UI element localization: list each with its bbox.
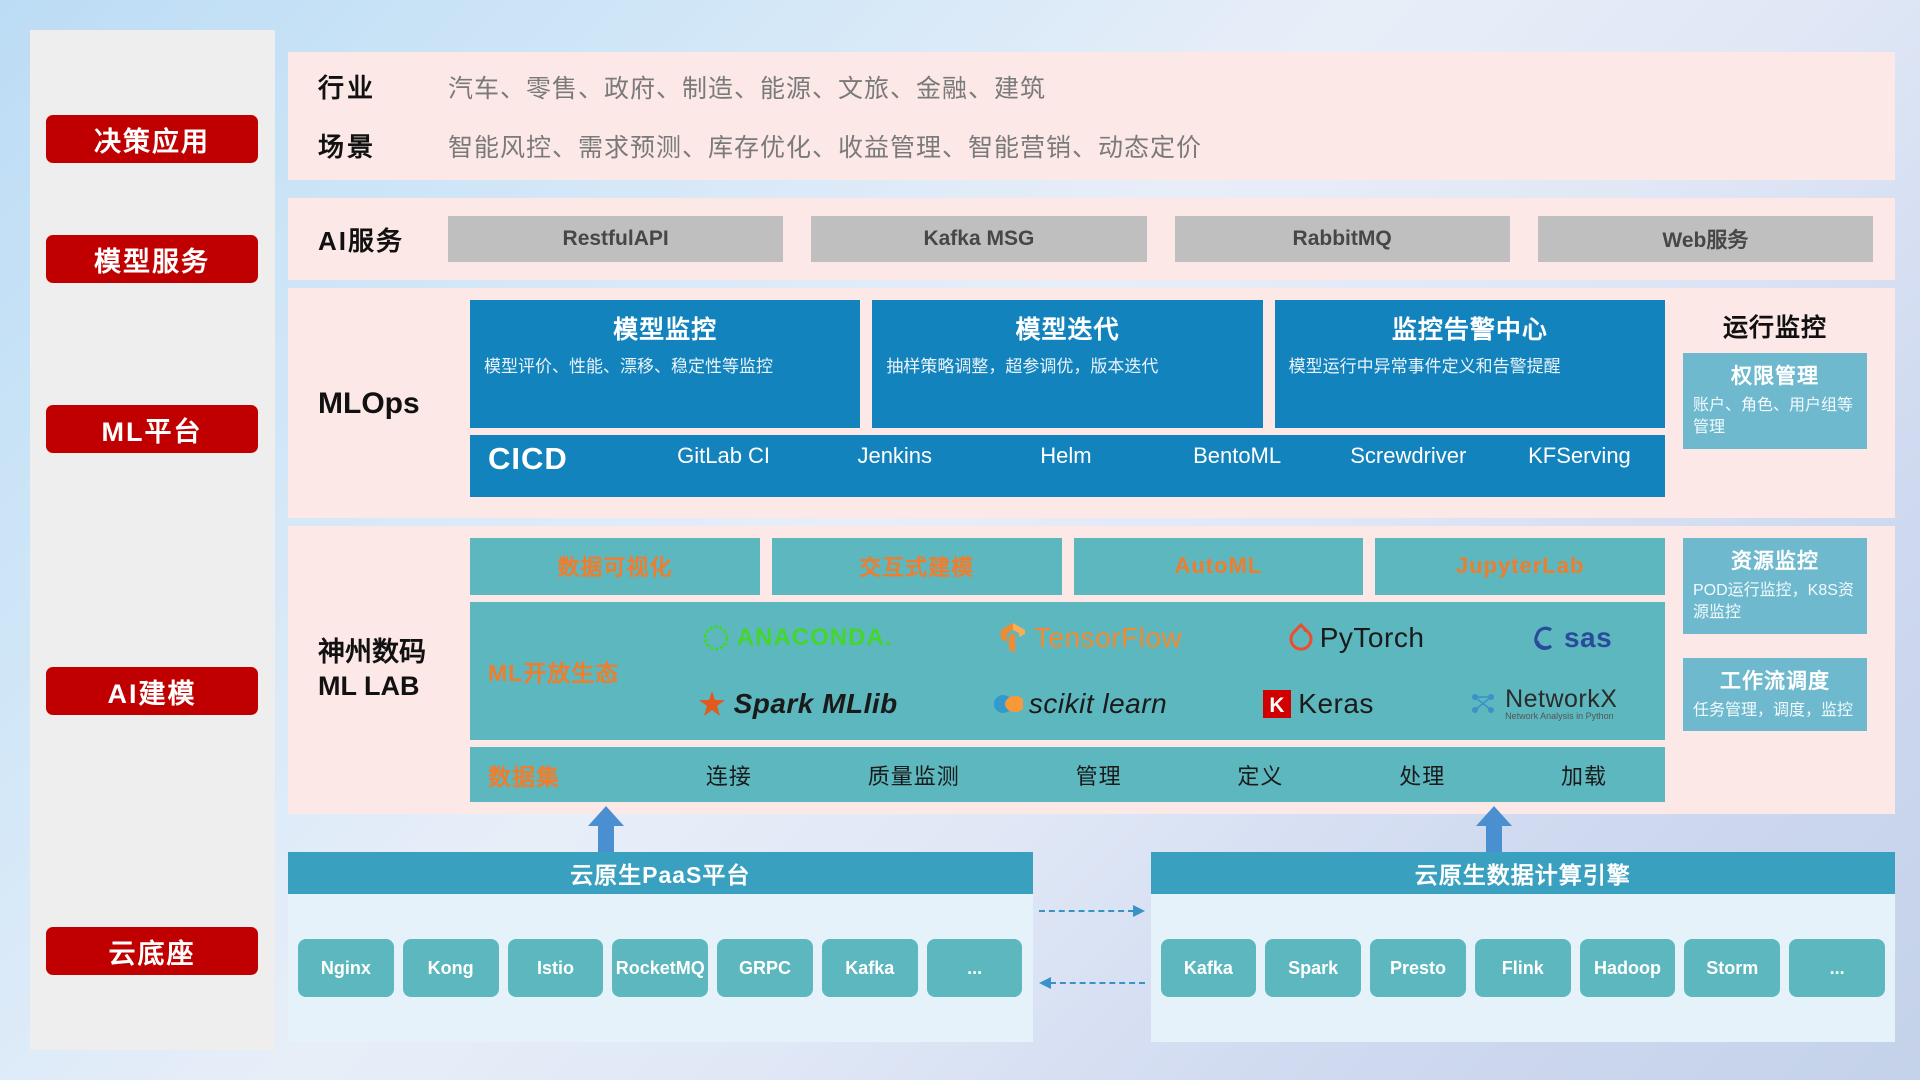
engine-chip-presto[interactable]: Presto [1370, 939, 1466, 997]
scikit-learn-icon [993, 690, 1023, 718]
card-title: 权限管理 [1693, 360, 1857, 390]
industry-values: 汽车、零售、政府、制造、能源、文旅、金融、建筑 [448, 69, 1046, 105]
ai-modeling-band: 神州数码 ML LAB 数据可视化 交互式建模 AutoML JupyterLa… [288, 526, 1895, 814]
pytorch-icon [1288, 623, 1314, 653]
runtime-monitor-panel-lower: 资源监控 POD运行监控，K8S资源监控 工作流调度 任务管理，调度，监控 [1677, 538, 1873, 802]
rail-item-ai-modeling[interactable]: AI建模 [46, 667, 258, 715]
card-title: 监控告警中心 [1289, 310, 1651, 346]
cloud-connector-arrows [1033, 852, 1151, 1042]
scikit-learn-logo: scikit learn [993, 688, 1167, 720]
svg-text:K: K [1270, 694, 1285, 717]
tool-chip-data-visualization[interactable]: 数据可视化 [470, 538, 760, 595]
dataset-item-loading[interactable]: 加载 [1561, 759, 1607, 791]
card-title: 模型迭代 [886, 310, 1248, 346]
ai-service-chip-web-service[interactable]: Web服务 [1538, 216, 1873, 262]
card-description: 模型运行中异常事件定义和告警提醒 [1289, 355, 1651, 379]
keras-icon: K [1262, 689, 1292, 719]
card-description: 任务管理，调度，监控 [1693, 700, 1857, 722]
card-description: POD运行监控，K8S资源监控 [1693, 580, 1857, 625]
dataset-item-processing[interactable]: 处理 [1399, 759, 1445, 791]
card-title: 工作流调度 [1693, 665, 1857, 695]
ml-platform-band: MLOps 模型监控 模型评价、性能、漂移、稳定性等监控 模型迭代 抽样策略调整… [288, 288, 1895, 518]
ml-ecosystem-row: ML开放生态 ANACONDA. [470, 602, 1665, 741]
rail-item-model-service[interactable]: 模型服务 [46, 235, 258, 283]
industry-label: 行业 [318, 68, 448, 105]
rail-label: 模型服务 [94, 240, 210, 279]
diagram-content: 行业 汽车、零售、政府、制造、能源、文旅、金融、建筑 场景 智能风控、需求预测、… [288, 30, 1895, 1050]
dataset-item-quality-monitoring[interactable]: 质量监测 [868, 759, 960, 791]
engine-chip-hadoop[interactable]: Hadoop [1580, 939, 1676, 997]
networkx-tagline: Network Analysis in Python [1505, 712, 1617, 721]
engine-chip-flink[interactable]: Flink [1475, 939, 1571, 997]
cicd-item-kfserving[interactable]: KFServing [1494, 441, 1665, 467]
scenario-row: 场景 智能风控、需求预测、库存优化、收益管理、智能营销、动态定价 [318, 127, 1895, 164]
ai-service-chip-restfulapi[interactable]: RestfulAPI [448, 216, 783, 262]
dataset-item-connect[interactable]: 连接 [706, 759, 752, 791]
paas-chip-more[interactable]: ... [927, 939, 1023, 997]
networkx-logo: NetworkX Network Analysis in Python [1469, 687, 1617, 721]
ml-lab-label: 神州数码 ML LAB [318, 538, 470, 802]
rail-label: 决策应用 [94, 120, 210, 159]
ml-lab-label-line1: 神州数码 [318, 636, 426, 670]
cicd-title: CICD [488, 441, 638, 477]
scikit-learn-wordmark: scikit learn [1029, 688, 1167, 720]
paas-chip-rocketmq[interactable]: RocketMQ [612, 939, 708, 997]
rail-label: 云底座 [109, 932, 196, 971]
mlops-card-model-iteration[interactable]: 模型迭代 抽样策略调整，超参调优，版本迭代 [872, 300, 1262, 428]
engine-chip-storm[interactable]: Storm [1684, 939, 1780, 997]
ml-ecosystem-label: ML开放生态 [488, 654, 648, 688]
architecture-diagram: 决策应用 模型服务 ML平台 AI建模 云底座 行业 汽车、零售、政府、制造、能… [30, 30, 1895, 1050]
rail-label: AI建模 [108, 672, 197, 711]
paas-platform-block: 云原生PaaS平台 Nginx Kong Istio RocketMQ GRPC… [288, 852, 1033, 1042]
runtime-monitor-title: 运行监控 [1677, 300, 1873, 344]
tool-chip-jupyterlab[interactable]: JupyterLab [1375, 538, 1665, 595]
paas-chip-kafka[interactable]: Kafka [822, 939, 918, 997]
arrow-left-icon [1039, 982, 1145, 984]
decision-application-band: 行业 汽车、零售、政府、制造、能源、文旅、金融、建筑 场景 智能风控、需求预测、… [288, 52, 1895, 180]
arrow-up-paas-icon [588, 806, 624, 852]
networkx-wordmark: NetworkX [1505, 687, 1617, 712]
arrow-right-icon [1039, 910, 1145, 912]
rail-item-cloud-base[interactable]: 云底座 [46, 927, 258, 975]
anaconda-icon [701, 623, 731, 653]
paas-chip-kong[interactable]: Kong [403, 939, 499, 997]
cicd-item-screwdriver[interactable]: Screwdriver [1323, 441, 1494, 467]
networkx-icon [1469, 690, 1499, 718]
ai-service-chip-kafka-msg[interactable]: Kafka MSG [811, 216, 1146, 262]
cicd-item-jenkins[interactable]: Jenkins [809, 441, 980, 467]
tool-chip-interactive-modeling[interactable]: 交互式建模 [772, 538, 1062, 595]
cicd-item-gitlab-ci[interactable]: GitLab CI [638, 441, 809, 467]
tensorflow-wordmark: TensorFlow [1034, 622, 1182, 654]
keras-wordmark: Keras [1298, 688, 1374, 720]
rail-label: ML平台 [102, 410, 203, 449]
data-engine-block: 云原生数据计算引擎 Kafka Spark Presto Flink Hadoo… [1151, 852, 1896, 1042]
rail-item-ml-platform[interactable]: ML平台 [46, 405, 258, 453]
engine-chip-more[interactable]: ... [1789, 939, 1885, 997]
industry-row: 行业 汽车、零售、政府、制造、能源、文旅、金融、建筑 [318, 68, 1895, 105]
mlops-label: MLOps [318, 300, 470, 508]
card-title: 模型监控 [484, 310, 846, 346]
sas-logo: sas [1530, 622, 1612, 654]
spark-icon [696, 689, 728, 719]
dataset-item-management[interactable]: 管理 [1076, 759, 1122, 791]
card-description: 账户、角色、用户组等管理 [1693, 395, 1857, 440]
ai-service-label: AI服务 [318, 221, 448, 258]
card-description: 模型评价、性能、漂移、稳定性等监控 [484, 355, 846, 379]
sas-icon [1530, 624, 1558, 652]
cicd-bar: CICD GitLab CI Jenkins Helm BentoML Scre… [470, 435, 1665, 497]
anaconda-logo: ANACONDA. [701, 623, 893, 653]
ai-service-chip-rabbitmq[interactable]: RabbitMQ [1175, 216, 1510, 262]
dataset-label: 数据集 [488, 758, 648, 792]
monitor-card-permission[interactable]: 权限管理 账户、角色、用户组等管理 [1683, 353, 1867, 449]
arrow-up-engine-icon [1476, 806, 1512, 852]
cicd-item-bentoml[interactable]: BentoML [1152, 441, 1323, 467]
sas-wordmark: sas [1564, 622, 1612, 654]
card-description: 抽样策略调整，超参调优，版本迭代 [886, 355, 1248, 379]
pytorch-logo: PyTorch [1288, 622, 1425, 654]
engine-title: 云原生数据计算引擎 [1151, 852, 1896, 894]
engine-chip-spark[interactable]: Spark [1265, 939, 1361, 997]
cicd-item-helm[interactable]: Helm [980, 441, 1151, 467]
paas-title: 云原生PaaS平台 [288, 852, 1033, 894]
dataset-item-definition[interactable]: 定义 [1237, 759, 1283, 791]
rail-item-decision[interactable]: 决策应用 [46, 115, 258, 163]
tensorflow-logo: TensorFlow [998, 622, 1182, 654]
ml-lab-label-line2: ML LAB [318, 670, 426, 704]
scenario-label: 场景 [318, 127, 448, 164]
engine-chip-kafka[interactable]: Kafka [1161, 939, 1257, 997]
scenario-values: 智能风控、需求预测、库存优化、收益管理、智能营销、动态定价 [448, 128, 1202, 164]
cloud-base-band: 云原生PaaS平台 Nginx Kong Istio RocketMQ GRPC… [288, 852, 1895, 1042]
paas-chip-nginx[interactable]: Nginx [298, 939, 394, 997]
ai-service-band: AI服务 RestfulAPI Kafka MSG RabbitMQ Web服务 [288, 198, 1895, 280]
paas-chip-grpc[interactable]: GRPC [717, 939, 813, 997]
runtime-monitor-panel: 运行监控 权限管理 账户、角色、用户组等管理 [1677, 300, 1873, 508]
mlops-card-model-monitoring[interactable]: 模型监控 模型评价、性能、漂移、稳定性等监控 [470, 300, 860, 428]
pytorch-wordmark: PyTorch [1320, 622, 1425, 654]
anaconda-wordmark: ANACONDA. [737, 624, 893, 652]
tool-chip-automl[interactable]: AutoML [1074, 538, 1364, 595]
spark-mllib-wordmark: Spark MLlib [734, 688, 898, 720]
mlops-card-alert-center[interactable]: 监控告警中心 模型运行中异常事件定义和告警提醒 [1275, 300, 1665, 428]
keras-logo: K Keras [1262, 688, 1374, 720]
layer-rail: 决策应用 模型服务 ML平台 AI建模 云底座 [30, 30, 275, 1050]
monitor-card-resource[interactable]: 资源监控 POD运行监控，K8S资源监控 [1683, 538, 1867, 634]
monitor-card-workflow[interactable]: 工作流调度 任务管理，调度，监控 [1683, 658, 1867, 731]
spark-mllib-logo: Spark MLlib [696, 688, 898, 720]
card-title: 资源监控 [1693, 545, 1857, 575]
paas-chip-istio[interactable]: Istio [508, 939, 604, 997]
tensorflow-icon [998, 622, 1028, 654]
dataset-row: 数据集 连接 质量监测 管理 定义 处理 加载 [470, 747, 1665, 802]
